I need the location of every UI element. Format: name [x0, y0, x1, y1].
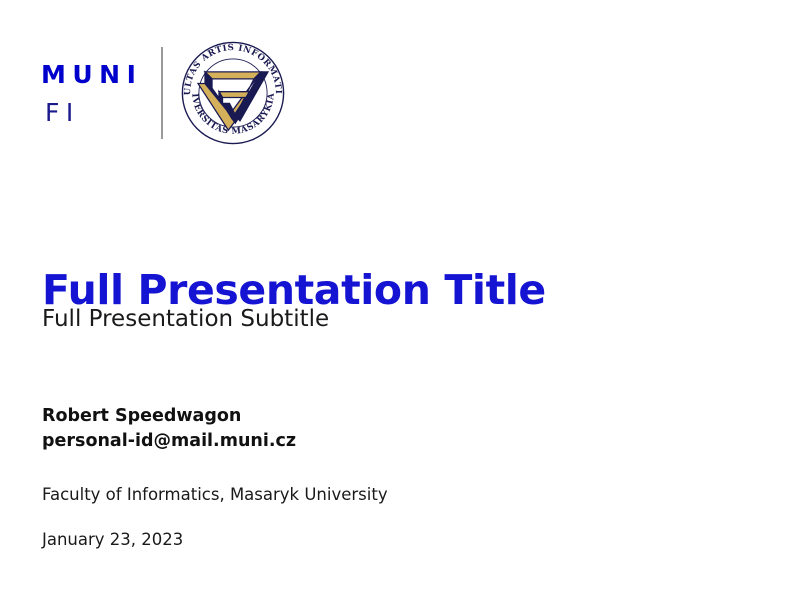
title-slide: MUNI FI · FACULTAS ARTIS INFORMATICAE · …: [0, 0, 794, 596]
author-affiliation: Faculty of Informatics, Masaryk Universi…: [42, 485, 388, 505]
brand-divider: [161, 47, 163, 139]
author-name: Robert Speedwagon: [42, 404, 296, 429]
author-email: personal-id@mail.muni.cz: [42, 429, 296, 454]
faculty-seal-icon: · FACULTAS ARTIS INFORMATICAE · UNIVERSI…: [178, 38, 288, 148]
presentation-subtitle: Full Presentation Subtitle: [42, 306, 329, 334]
wordmark-muni-text: MUNI: [41, 62, 148, 87]
brand-header: MUNI FI · FACULTAS ARTIS INFORMATICAE · …: [40, 38, 288, 148]
wordmark-fi-text: FI: [45, 100, 148, 125]
svg-text:· FACULTAS ARTIS INFORMATICAE: · FACULTAS ARTIS INFORMATICAE ·: [178, 38, 283, 96]
author-block: Robert Speedwagon personal-id@mail.muni.…: [42, 404, 296, 454]
presentation-date: January 23, 2023: [42, 530, 183, 550]
muni-fi-wordmark: MUNI FI: [40, 52, 148, 134]
